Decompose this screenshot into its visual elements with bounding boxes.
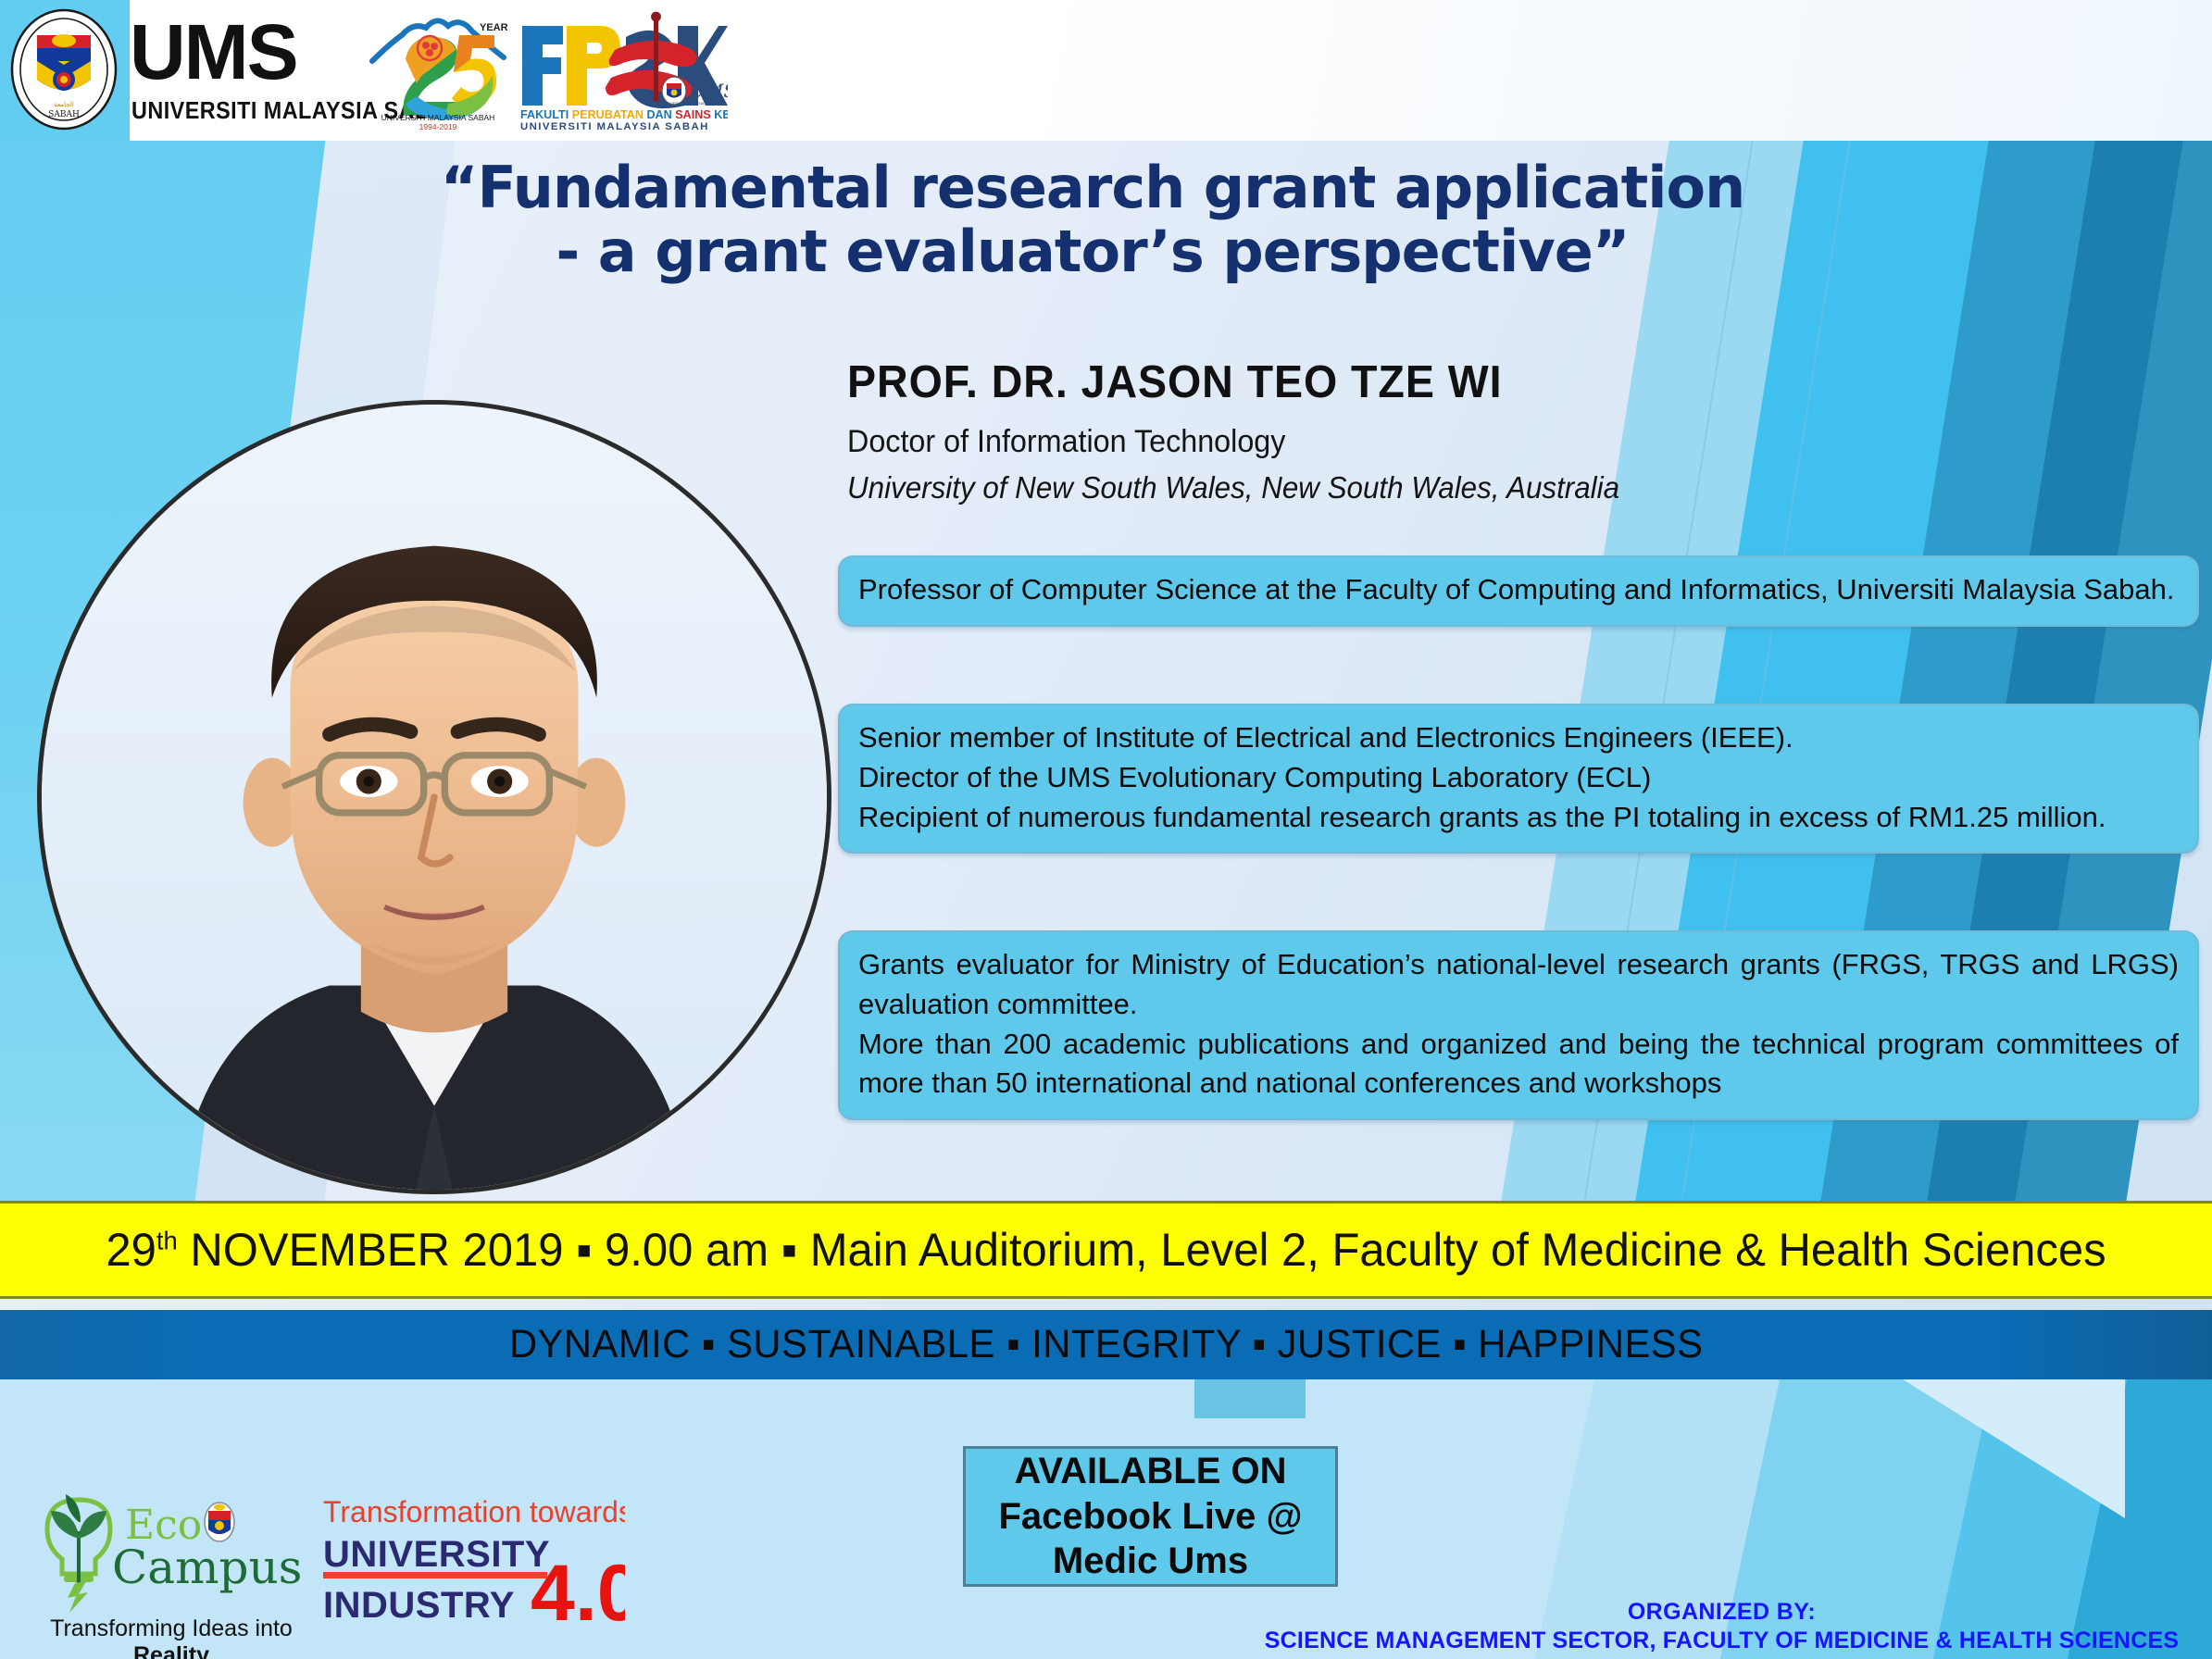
fpsk-ums-badge-text: UMS: [689, 80, 728, 102]
anniversary-dates: 1994-2019: [419, 122, 457, 130]
svg-text:الجامعة: الجامعة: [54, 101, 74, 108]
svg-text:UNIVERSITI MALAYSIA SABAH: UNIVERSITI MALAYSIA SABAH: [664, 101, 718, 106]
anniversary-years-label: YEARS: [480, 22, 507, 33]
eco-ums-crest-icon: [205, 1503, 234, 1541]
poster-title: “Fundamental research grant application …: [306, 156, 1880, 284]
bio-box-text: Senior member of Institute of Electrical…: [858, 718, 2179, 837]
eco-tagline-a: Transforming Ideas into: [50, 1615, 293, 1641]
fpsk-faculty-logo-icon: UMS UNIVERSITI MALAYSIA SABAH FAKULTI PE…: [515, 9, 728, 130]
event-day: 29: [106, 1224, 156, 1276]
poster-title-line2: - a grant evaluator’s perspective”: [306, 219, 1880, 283]
ui40-line2: UNIVERSITY: [323, 1534, 550, 1575]
eco-tagline-b: Reality: [133, 1642, 209, 1659]
ui40-line1: Transformation towards: [323, 1495, 625, 1528]
event-details-text: 29th NOVEMBER 2019 ▪ 9.00 am ▪ Main Audi…: [22, 1223, 2190, 1277]
ums-25th-anniversary-icon: YEARS UNIVERSITI MALAYSIA SABAH 1994-201…: [369, 7, 507, 130]
facebook-live-box[interactable]: AVAILABLE ON Facebook Live @ Medic Ums: [963, 1446, 1338, 1587]
header-logo-group: SABAH الجامعة UMS UNIVERSITI MALAYSIA SA…: [0, 0, 796, 139]
ui40-version: 4.0: [531, 1549, 625, 1629]
motto-text: DYNAMIC ▪ SUSTAINABLE ▪ INTEGRITY ▪ JUST…: [509, 1322, 1703, 1367]
speaker-degree: Doctor of Information Technology: [847, 424, 1285, 460]
facebook-live-line1: AVAILABLE ON: [1014, 1449, 1286, 1494]
anniversary-caption: UNIVERSITI MALAYSIA SABAH: [381, 113, 495, 122]
svg-text:SABAH: SABAH: [48, 110, 80, 119]
university-industry-40-logo-icon: Transformation towards UNIVERSITY INDUST…: [319, 1491, 625, 1629]
eco-campus-tagline: Transforming Ideas into Reality: [23, 1615, 319, 1659]
organizer-name: SCIENCE MANAGEMENT SECTOR, FACULTY OF ME…: [1231, 1627, 2212, 1655]
event-details-banner: 29th NOVEMBER 2019 ▪ 9.00 am ▪ Main Audi…: [0, 1201, 2212, 1299]
speaker-university: University of New South Wales, New South…: [847, 470, 1619, 505]
footer-small-rect: [1194, 1379, 1306, 1418]
bio-box: Professor of Computer Science at the Fac…: [838, 555, 2199, 627]
organized-by-block: ORGANIZED BY: SCIENCE MANAGEMENT SECTOR,…: [1231, 1598, 2212, 1655]
fpsk-tagline-line2: UNIVERSITI MALAYSIA SABAH: [520, 121, 709, 130]
poster-title-line1: “Fundamental research grant application: [441, 154, 1745, 221]
ums-crest-icon: SABAH الجامعة: [9, 7, 119, 131]
bio-box-text: Grants evaluator for Ministry of Educati…: [858, 945, 2179, 1104]
event-day-ordinal: th: [156, 1226, 178, 1254]
poster-root: SABAH الجامعة UMS UNIVERSITI MALAYSIA SA…: [0, 0, 2212, 1659]
organized-by-label: ORGANIZED BY:: [1231, 1598, 2212, 1627]
motto-banner: DYNAMIC ▪ SUSTAINABLE ▪ INTEGRITY ▪ JUST…: [0, 1310, 2212, 1379]
speaker-name: PROF. DR. JASON TEO TZE WI: [847, 356, 1502, 408]
bio-box: Grants evaluator for Ministry of Educati…: [838, 930, 2199, 1120]
facebook-live-line2: Facebook Live @: [999, 1494, 1303, 1540]
bio-box: Senior member of Institute of Electrical…: [838, 704, 2199, 854]
ui40-line3: INDUSTRY: [323, 1585, 515, 1626]
fpsk-tagline-line1: FAKULTI PERUBATAN DAN SAINS KESIHATAN: [520, 108, 728, 121]
bio-box-text: Professor of Computer Science at the Fac…: [858, 570, 2179, 610]
facebook-live-line3: Medic Ums: [1053, 1539, 1248, 1584]
speaker-portrait-image: [42, 405, 827, 1190]
speaker-portrait: [37, 400, 831, 1194]
footer-triangle: [1903, 1379, 2125, 1518]
event-rest: NOVEMBER 2019 ▪ 9.00 am ▪ Main Auditoriu…: [178, 1224, 2106, 1276]
eco-word-campus: Campus: [112, 1540, 302, 1594]
ums-wordmark: UMS: [130, 13, 297, 91]
